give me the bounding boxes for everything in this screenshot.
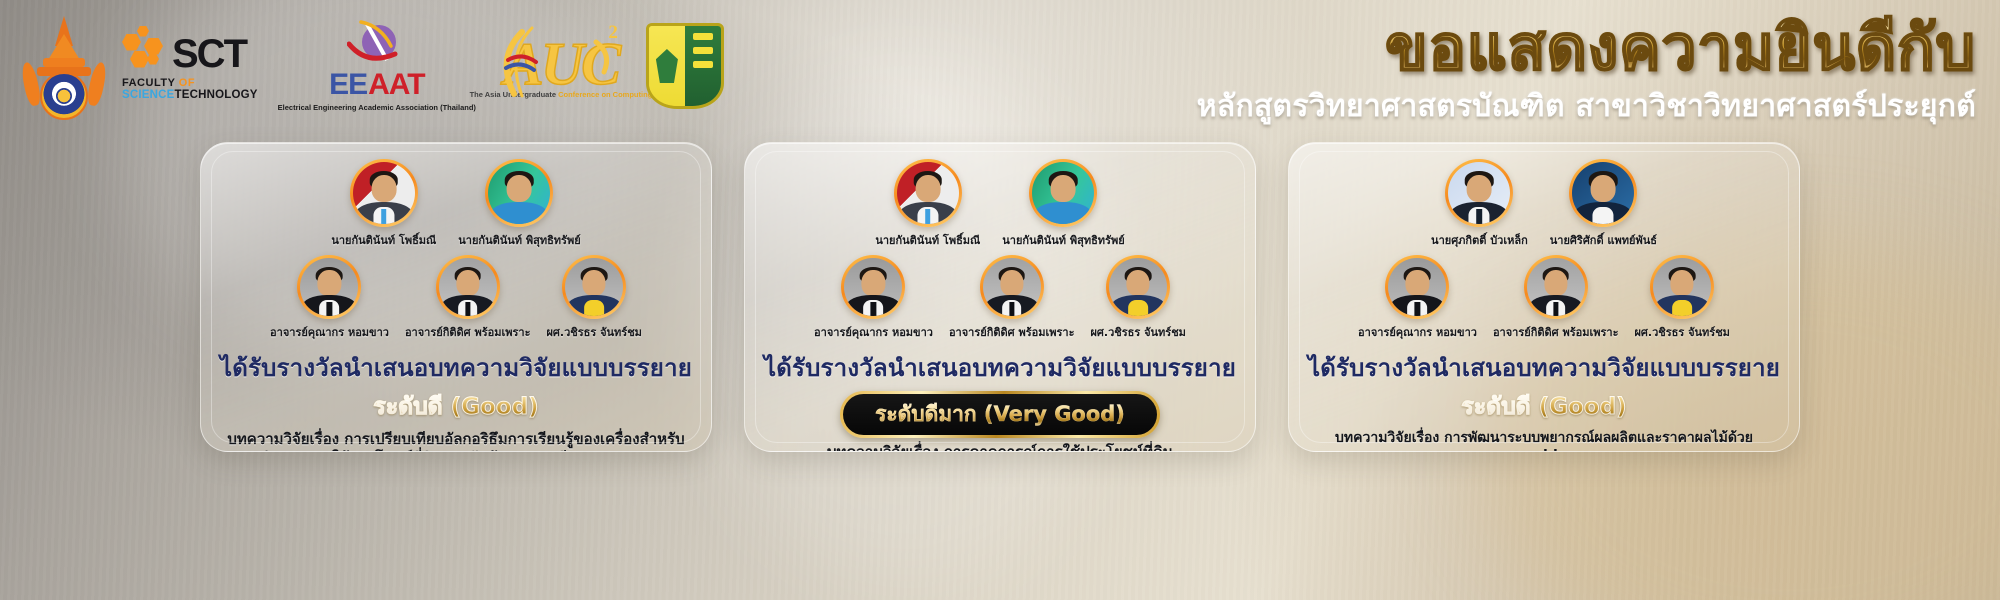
avatar <box>894 159 962 227</box>
advisor-photo <box>983 258 1041 316</box>
person-card[interactable]: อาจารย์คุณากร หอมขาว <box>270 255 389 341</box>
advisor-photo <box>1109 258 1167 316</box>
headline-block: ขอแสดงความยินดีกับ หลักสูตรวิทยาศาสตรบัณ… <box>1197 16 1976 130</box>
eeaat-caption: Electrical Engineering Academic Associat… <box>278 103 476 112</box>
auc-superscript-2: 2 <box>608 22 618 44</box>
grade-label: ระดับดี (Good) <box>201 389 711 425</box>
shield-icon <box>646 23 724 109</box>
auc2-conference-logo: AUC 2 The Asia Undergraduate Conference … <box>496 20 626 112</box>
person-card[interactable]: นายกันตินันท์ พิสุทธิทรัพย์ <box>1002 159 1124 249</box>
eeaat-aat-wordmark: AAT <box>368 68 424 102</box>
person-name: อาจารย์กิติดิศ พร้อมเพราะ <box>1493 323 1619 341</box>
award-card[interactable]: นายกันตินันท์ โพธิ์มณี นายกันตินันท์ พิส… <box>744 142 1256 452</box>
student-photo <box>488 162 550 224</box>
rmutto-royal-emblem-logo <box>26 14 102 118</box>
avatar <box>1445 159 1513 227</box>
avatar <box>485 159 553 227</box>
advisor-photo <box>300 258 358 316</box>
sct-science-word: SCIENCE <box>122 89 175 101</box>
sct-technology-word: TECHNOLOGY <box>175 89 258 101</box>
person-name: นายกันตินันท์ พิสุทธิทรัพย์ <box>458 231 580 249</box>
advisors-row: อาจารย์คุณากร หอมขาว อาจารย์กิติดิศ พร้อ… <box>745 255 1255 341</box>
abstract-line: การจำแนกการใช้ประโยชน์ที่ดินร่วมกับข้อมู… <box>217 449 695 452</box>
advisor-photo <box>844 258 902 316</box>
person-card[interactable]: ผศ.วชิรธร จันทร์ชม <box>1090 255 1185 341</box>
advisor-photo <box>565 258 623 316</box>
person-name: ผศ.วชิรธร จันทร์ชม <box>1090 323 1185 341</box>
abstract-line: บทความวิจัยเรื่อง การคาดการณ์การใช้ประโย… <box>761 443 1239 452</box>
person-name: นายกันตินันท์ พิสุทธิทรัพย์ <box>1002 231 1124 249</box>
person-name: นายกันติน้นท์ โพธิ์มณี <box>331 231 436 249</box>
person-card[interactable]: ผศ.วชิรธร จันทร์ชม <box>546 255 641 341</box>
person-card[interactable]: นายกันตินันท์ โพธิ์มณี <box>875 159 980 249</box>
avatar <box>1569 159 1637 227</box>
logo-strip: SCT FACULTY OF SCIENCETECHNOLOGY EE AAT <box>26 14 724 118</box>
hexagon-cluster-icon <box>122 32 166 76</box>
advisor-photo <box>1388 258 1446 316</box>
advisors-row: อาจารย์คุณากร หอมขาว อาจารย์กิติดิศ พร้อ… <box>201 255 711 341</box>
sct-faculty-word: FACULTY <box>122 77 179 89</box>
abstract-text: บทความวิจัยเรื่อง การพัฒนาระบบพยากรณ์ผลผ… <box>1289 430 1799 452</box>
royal-emblem-icon <box>26 14 102 118</box>
advisors-row: อาจารย์คุณากร หอมขาว อาจารย์กิติดิศ พร้อ… <box>1289 255 1799 341</box>
award-title: ได้รับรางวัลนำเสนอบทความวิจัยแบบบรรยาย <box>745 348 1255 387</box>
page-subtitle: หลักสูตรวิทยาศาสตรบัณฑิต สาขาวิชาวิทยาศา… <box>1197 83 1976 130</box>
avatar <box>436 255 500 319</box>
avatar <box>1106 255 1170 319</box>
university-shield-logo <box>646 23 724 109</box>
person-card[interactable]: นายกันตินันท์ พิสุทธิทรัพย์ <box>458 159 580 249</box>
advisor-photo <box>1527 258 1585 316</box>
eeaat-logo: EE AAT Electrical Engineering Academic A… <box>278 20 476 112</box>
student-photo <box>1448 162 1510 224</box>
person-name: นายศิริศักดิ์ แพทย์พันธ์ <box>1550 231 1657 249</box>
person-card[interactable]: นายศิริศักดิ์ แพทย์พันธ์ <box>1550 159 1657 249</box>
avatar <box>1385 255 1449 319</box>
students-row: นายกันติน้นท์ โพธิ์มณี นายกันตินันท์ พิส… <box>201 159 711 249</box>
student-photo <box>1032 162 1094 224</box>
abstract-text: บทความวิจัยเรื่อง การคาดการณ์การใช้ประโย… <box>745 443 1255 452</box>
sct-faculty-logo: SCT FACULTY OF SCIENCETECHNOLOGY <box>122 32 258 101</box>
students-row: นายศุภกิตติ์ บัวเหล็ก นายศิริศักดิ์ แพทย… <box>1289 159 1799 249</box>
person-name: ผศ.วชิรธร จันทร์ชม <box>546 323 641 341</box>
person-name: นายกันตินันท์ โพธิ์มณี <box>875 231 980 249</box>
congratulations-banner: SCT FACULTY OF SCIENCETECHNOLOGY EE AAT <box>0 0 2000 600</box>
avatar <box>841 255 905 319</box>
award-card[interactable]: นายกันติน้นท์ โพธิ์มณี นายกันตินันท์ พิส… <box>200 142 712 452</box>
sct-faculty-line2: SCIENCETECHNOLOGY <box>122 89 258 101</box>
avatar <box>1029 159 1097 227</box>
person-card[interactable]: อาจารย์คุณากร หอมขาว <box>814 255 933 341</box>
student-photo <box>353 162 415 224</box>
award-title: ได้รับรางวัลนำเสนอบทความวิจัยแบบบรรยาย <box>1289 348 1799 387</box>
sct-faculty-line1: FACULTY OF <box>122 77 195 89</box>
advisor-photo <box>439 258 497 316</box>
auc-swoosh-icon <box>492 24 622 104</box>
sct-wordmark: SCT <box>172 36 246 72</box>
award-title: ได้รับรางวัลนำเสนอบทความวิจัยแบบบรรยาย <box>201 348 711 387</box>
avatar <box>1650 255 1714 319</box>
eeaat-swirl-icon <box>347 20 407 72</box>
person-card[interactable]: อาจารย์คุณากร หอมขาว <box>1358 255 1477 341</box>
person-name: นายศุภกิตติ์ บัวเหล็ก <box>1431 231 1528 249</box>
grade-label: ระดับดีมาก (Very Good) <box>875 402 1125 426</box>
sct-of-word: OF <box>179 77 195 89</box>
person-name: อาจารย์กิติดิศ พร้อมเพราะ <box>405 323 531 341</box>
person-name: อาจารย์กิติดิศ พร้อมเพราะ <box>949 323 1075 341</box>
person-name: อาจารย์คุณากร หอมขาว <box>270 323 389 341</box>
advisor-photo <box>1653 258 1711 316</box>
student-photo <box>897 162 959 224</box>
student-photo <box>1572 162 1634 224</box>
person-card[interactable]: อาจารย์กิติดิศ พร้อมเพราะ <box>949 255 1075 341</box>
person-name: ผศ.วชิรธร จันทร์ชม <box>1634 323 1729 341</box>
abstract-line: บทความวิจัยเรื่อง การเปรียบเทียบอัลกอริธ… <box>217 430 695 449</box>
abstract-text: บทความวิจัยเรื่อง การเปรียบเทียบอัลกอริธ… <box>201 430 711 452</box>
award-card[interactable]: นายศุภกิตติ์ บัวเหล็ก นายศิริศักดิ์ แพทย… <box>1288 142 1800 452</box>
person-card[interactable]: อาจารย์กิติดิศ พร้อมเพราะ <box>1493 255 1619 341</box>
abstract-line: บทความวิจัยเรื่อง การพัฒนาระบบพยากรณ์ผลผ… <box>1305 430 1783 452</box>
award-cards-container: นายกันติน้นท์ โพธิ์มณี นายกันตินันท์ พิส… <box>0 142 2000 460</box>
avatar <box>1524 255 1588 319</box>
page-title: ขอแสดงความยินดีกับ <box>1197 16 1976 79</box>
person-card[interactable]: ผศ.วชิรธร จันทร์ชม <box>1634 255 1729 341</box>
person-card[interactable]: นายกันติน้นท์ โพธิ์มณี <box>331 159 436 249</box>
person-card[interactable]: อาจารย์กิติดิศ พร้อมเพราะ <box>405 255 531 341</box>
grade-badge: ระดับดีมาก (Very Good) <box>840 391 1160 438</box>
eeaat-ee-wordmark: EE <box>329 68 367 102</box>
avatar <box>297 255 361 319</box>
grade-label: ระดับดี (Good) <box>1289 389 1799 425</box>
person-name: อาจารย์คุณากร หอมขาว <box>1358 323 1477 341</box>
person-card[interactable]: นายศุภกิตติ์ บัวเหล็ก <box>1431 159 1528 249</box>
avatar <box>980 255 1044 319</box>
students-row: นายกันตินันท์ โพธิ์มณี นายกันตินันท์ พิส… <box>745 159 1255 249</box>
avatar <box>350 159 418 227</box>
person-name: อาจารย์คุณากร หอมขาว <box>814 323 933 341</box>
avatar <box>562 255 626 319</box>
